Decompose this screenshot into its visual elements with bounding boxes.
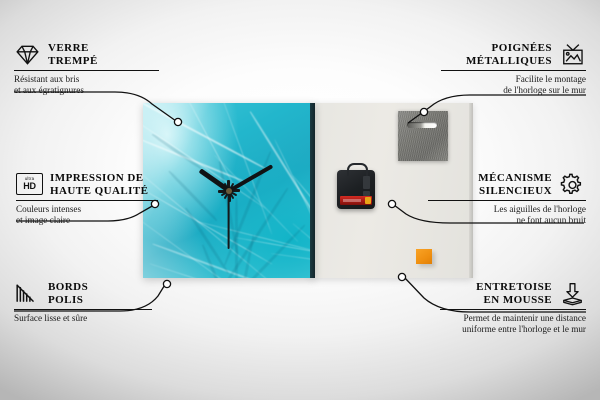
divider [14,309,152,310]
feature-subtitle: Surface lisse et sûre [14,313,152,324]
clock-mechanism [337,170,375,209]
ultra-hd-icon-large-text: HD [23,182,36,190]
feature-mecanisme-silencieux[interactable]: MÉCANISME SILENCIEUX Les aiguilles de l'… [428,172,586,226]
feature-poignees-metalliques[interactable]: POIGNÉES MÉTALLIQUES Facilite le montage… [441,42,586,96]
feature-title: POIGNÉES MÉTALLIQUES [466,42,552,67]
feature-subtitle: Couleurs intenses et image claire [16,204,158,225]
divider [441,70,586,71]
hanger-slot [407,122,437,128]
foam-spacer-icon [559,282,586,306]
clock-face-panel [143,103,315,278]
mechanism-vent [363,176,370,189]
clock-tick [165,190,229,192]
feature-bords-polis[interactable]: BORDS POLIS Surface lisse et sûre [14,281,152,324]
product-illustration [143,103,473,281]
divider [16,200,158,201]
divider [440,309,586,310]
infographic-canvas: VERRE TREMPÉ Résistant aux bris et aux é… [0,0,600,400]
clock-tick [229,190,293,192]
picture-hanger-icon [559,43,586,67]
leader-dot-bords-polis [163,280,170,287]
feature-subtitle: Résistant aux bris et aux égratignures [14,74,159,95]
feature-title: VERRE TREMPÉ [48,42,98,67]
divider [428,200,586,201]
clock-tick [228,127,230,191]
second-hand [228,191,230,249]
feature-subtitle: Permet de maintenir une distance uniform… [440,313,586,334]
feature-title: MÉCANISME SILENCIEUX [478,172,552,197]
gear-icon [559,173,586,197]
diamond-icon [14,43,41,67]
feature-impression-haute-qualite[interactable]: ultra HD IMPRESSION DE HAUTE QUALITÉ Cou… [16,172,158,226]
foam-spacer [416,249,432,264]
feature-entretoise-en-mousse[interactable]: ENTRETOISE EN MOUSSE Permet de maintenir… [440,281,586,335]
divider [14,70,159,71]
feature-title: ENTRETOISE EN MOUSSE [476,281,552,306]
metal-hanger-plate [398,111,448,161]
clock-dial [143,103,315,278]
feature-title: BORDS POLIS [48,281,88,306]
feature-title: IMPRESSION DE HAUTE QUALITÉ [50,172,148,197]
mechanism-hanger-loop [347,163,368,176]
battery [340,196,372,205]
feature-subtitle: Les aiguilles de l'horloge ne font aucun… [428,204,586,225]
polished-edge-icon [14,282,41,306]
hands-cap [226,188,232,194]
feature-subtitle: Facilite le montage de l'horloge sur le … [441,74,586,95]
feature-verre-trempe[interactable]: VERRE TREMPÉ Résistant aux bris et aux é… [14,42,159,96]
ultra-hd-icon: ultra HD [16,173,43,197]
